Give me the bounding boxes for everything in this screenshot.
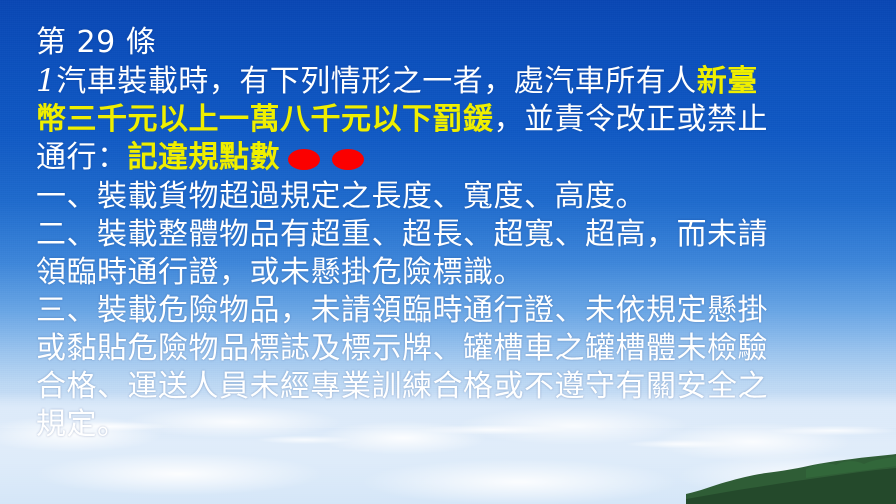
text-line-item-2b: 領臨時通行證，或未懸掛危險標識。 [36,254,888,292]
item-3-text-line2: 或黏貼危險物品標誌及標示牌、罐槽車之罐槽體未檢驗 [36,331,768,366]
clause-text-part1: 汽車裝載時，有下列情形之一者，處汽車所有人 [56,64,697,99]
item-2-text-line1: 二、裝載整體物品有超重、超長、超寬、超高，而未請 [36,217,768,252]
text-line-4: 通行：記違規點數 [36,139,888,178]
text-line-item-3d: 規定。 [36,406,888,444]
text-line-item-2a: 二、裝載整體物品有超重、超長、超寬、超高，而未請 [36,216,888,254]
demerit-point-markers [288,140,376,178]
text-line-3: 幣三千元以上一萬八千元以下罰鍰，並責令改正或禁止 [36,101,888,139]
item-3-text-line1: 三、裝載危險物品，未請領臨時通行證、未依規定懸掛 [36,293,768,328]
presentation-slide: 第 29 條 1汽車裝載時，有下列情形之一者，處汽車所有人新臺 幣三千元以上一萬… [0,0,896,504]
red-dot-marker-1 [288,149,320,170]
fine-amount-highlight: 幣三千元以上一萬八千元以下罰鍰 [36,102,494,137]
page-title: 第 29 條 [36,25,156,60]
item-3-text-line4: 規定。 [36,407,128,442]
item-3-text-line3: 合格、運送人員未經專業訓練合格或不遵守有關安全之 [36,369,768,404]
text-line-2: 1汽車裝載時，有下列情形之一者，處汽車所有人新臺 [36,62,888,101]
red-dot-marker-2 [332,149,364,170]
clause-number: 1 [36,63,56,99]
text-line-item-3b: 或黏貼危險物品標誌及標示牌、罐槽車之罐槽體未檢驗 [36,330,888,368]
item-2-text-line2: 領臨時通行證，或未懸掛危險標識。 [36,255,524,290]
slide-text-body: 第 29 條 1汽車裝載時，有下列情形之一者，處汽車所有人新臺 幣三千元以上一萬… [36,24,888,444]
clause-text-part3: 通行： [36,140,128,175]
background-forested-ridge [686,442,896,504]
item-1-text: 一、裝載貨物超過規定之長度、寬度、高度。 [36,179,646,214]
clause-text-part2: ，並責令改正或禁止 [494,102,769,137]
text-line-title: 第 29 條 [36,24,888,62]
text-line-item-3c: 合格、運送人員未經專業訓練合格或不遵守有關安全之 [36,368,888,406]
demerit-points-highlight: 記違規點數 [128,140,281,175]
text-line-item-1: 一、裝載貨物超過規定之長度、寬度、高度。 [36,178,888,216]
fine-amount-highlight-start: 新臺 [697,64,758,99]
text-line-item-3a: 三、裝載危險物品，未請領臨時通行證、未依規定懸掛 [36,292,888,330]
